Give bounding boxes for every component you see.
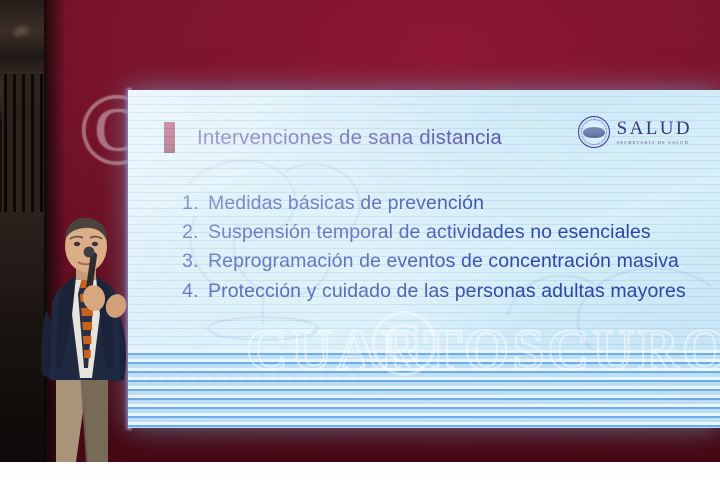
- list-item-number: 4.: [182, 280, 201, 303]
- slide-content: Intervenciones de sana distancia SALUD S…: [128, 90, 720, 428]
- photo-frame: © Interve: [0, 0, 720, 480]
- list-item: 4. Protección y cuidado de las personas …: [182, 280, 720, 303]
- list-item: 3. Reprogramación de eventos de concentr…: [182, 250, 702, 273]
- salud-wordmark: SALUD: [617, 119, 692, 138]
- list-item-label: Reprogramación de eventos de concentraci…: [208, 250, 679, 273]
- list-item: 2. Suspensión temporal de actividades no…: [182, 221, 720, 244]
- projection-screen: Intervenciones de sana distancia SALUD S…: [128, 90, 720, 428]
- slide-title-row: Intervenciones de sana distancia: [164, 122, 502, 153]
- slide-title: Intervenciones de sana distancia: [197, 126, 502, 150]
- salud-subtitle: SECRETARÍA DE SALUD: [617, 141, 692, 146]
- list-item-label: Suspensión temporal de actividades no es…: [208, 221, 651, 244]
- bottom-letterbox: [0, 462, 720, 480]
- list-item: 1. Medidas básicas de prevención: [182, 192, 702, 215]
- wall-shadow: [44, 0, 66, 462]
- list-item-number: 3.: [182, 250, 201, 273]
- stone-pillar: [0, 0, 44, 462]
- intervention-list: 1. Medidas básicas de prevención 2. Susp…: [182, 192, 702, 309]
- title-accent-bar: [164, 122, 175, 153]
- stone-carving: [7, 19, 36, 43]
- list-item-number: 1.: [182, 192, 201, 215]
- list-item-number: 2.: [182, 221, 201, 244]
- window-grill: [2, 72, 46, 216]
- stone-base: [0, 212, 46, 462]
- salud-logo: SALUD SECRETARÍA DE SALUD: [578, 116, 692, 148]
- list-item-label: Medidas básicas de prevención: [208, 192, 484, 215]
- list-item-label: Protección y cuidado de las personas adu…: [208, 280, 686, 303]
- mexican-national-seal-icon: [578, 116, 610, 148]
